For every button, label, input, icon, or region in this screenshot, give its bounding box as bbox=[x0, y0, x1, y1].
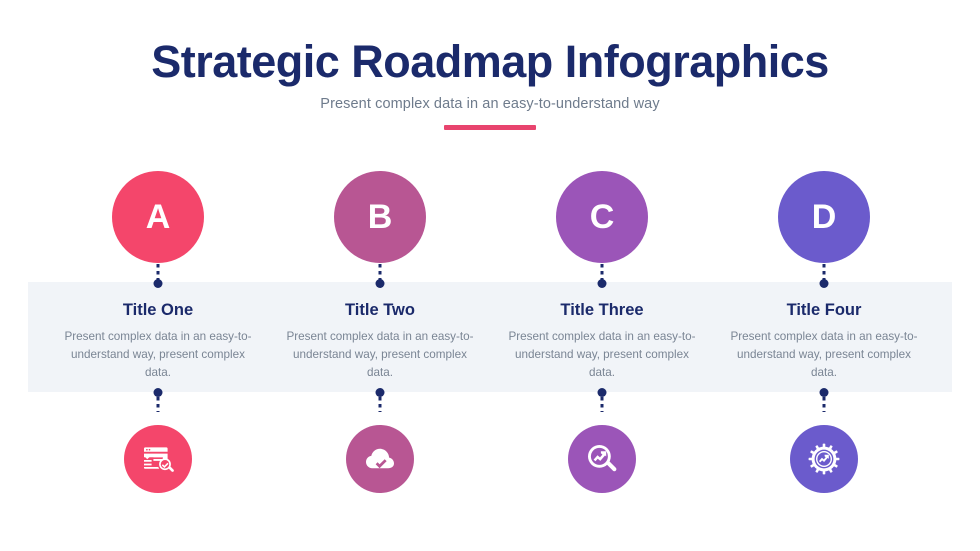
step-letter-circle-d[interactable]: D bbox=[778, 171, 870, 263]
connector-top-c bbox=[601, 264, 604, 286]
step-icon-circle-c[interactable] bbox=[568, 425, 636, 493]
step-description-c: Present complex data in an easy-to-under… bbox=[491, 328, 713, 381]
step-icon-circle-d[interactable] bbox=[790, 425, 858, 493]
connector-node bbox=[376, 388, 385, 397]
cloud-check-icon bbox=[364, 443, 396, 475]
connector-node bbox=[598, 388, 607, 397]
step-text-b: Title Two Present complex data in an eas… bbox=[269, 301, 491, 381]
step-description-a: Present complex data in an easy-to-under… bbox=[47, 328, 269, 381]
connector-bottom-c bbox=[601, 390, 604, 412]
gear-trend-icon bbox=[808, 443, 840, 475]
connector-top-b bbox=[379, 264, 382, 286]
connector-node bbox=[598, 279, 607, 288]
step-letter-d: D bbox=[812, 200, 837, 234]
search-trend-icon bbox=[586, 443, 618, 475]
step-text-c: Title Three Present complex data in an e… bbox=[491, 301, 713, 381]
step-letter-a: A bbox=[146, 200, 171, 234]
step-column-b: B Title Two Present complex data in an e… bbox=[269, 0, 491, 551]
step-text-d: Title Four Present complex data in an ea… bbox=[713, 301, 935, 381]
connector-node bbox=[154, 279, 163, 288]
checklist-search-icon bbox=[142, 443, 174, 475]
step-letter-circle-c[interactable]: C bbox=[556, 171, 648, 263]
connector-bottom-d bbox=[823, 390, 826, 412]
step-letter-c: C bbox=[590, 200, 615, 234]
step-icon-circle-a[interactable] bbox=[124, 425, 192, 493]
steps-container: A Title One Present complex data in an e… bbox=[0, 0, 980, 551]
step-letter-b: B bbox=[368, 200, 393, 234]
step-column-d: D Title Four Present complex data in an … bbox=[713, 0, 935, 551]
step-title-c: Title Three bbox=[491, 301, 713, 319]
connector-node bbox=[820, 388, 829, 397]
connector-bottom-a bbox=[157, 390, 160, 412]
step-text-a: Title One Present complex data in an eas… bbox=[47, 301, 269, 381]
step-letter-circle-b[interactable]: B bbox=[334, 171, 426, 263]
step-description-d: Present complex data in an easy-to-under… bbox=[713, 328, 935, 381]
connector-bottom-b bbox=[379, 390, 382, 412]
step-icon-circle-b[interactable] bbox=[346, 425, 414, 493]
step-letter-circle-a[interactable]: A bbox=[112, 171, 204, 263]
connector-node bbox=[154, 388, 163, 397]
connector-top-a bbox=[157, 264, 160, 286]
step-column-a: A Title One Present complex data in an e… bbox=[47, 0, 269, 551]
connector-top-d bbox=[823, 264, 826, 286]
connector-node bbox=[376, 279, 385, 288]
step-title-a: Title One bbox=[47, 301, 269, 319]
step-title-d: Title Four bbox=[713, 301, 935, 319]
step-column-c: C Title Three Present complex data in an… bbox=[491, 0, 713, 551]
step-description-b: Present complex data in an easy-to-under… bbox=[269, 328, 491, 381]
infographic-slide: Strategic Roadmap Infographics Present c… bbox=[0, 0, 980, 551]
step-title-b: Title Two bbox=[269, 301, 491, 319]
connector-node bbox=[820, 279, 829, 288]
